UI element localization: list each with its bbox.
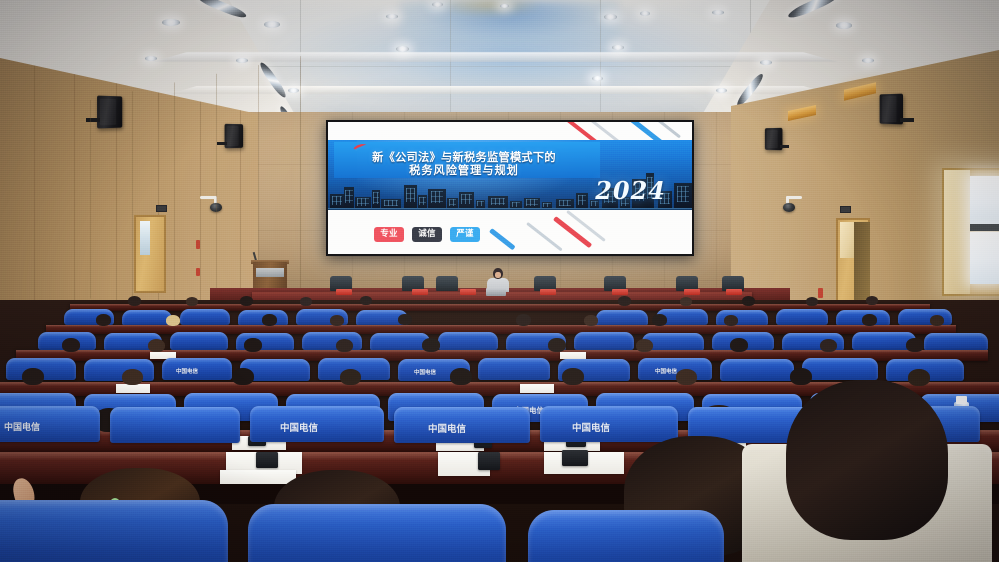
downlight xyxy=(760,60,772,65)
seat-brand-logo: 中国电信 xyxy=(428,421,466,435)
downlight xyxy=(716,88,727,93)
downlight xyxy=(145,56,157,61)
audience-head xyxy=(186,297,198,306)
seat-rear xyxy=(898,309,952,325)
seat-brand-logo: 中国电信 xyxy=(655,367,677,375)
seat-row-2: 中国电信 xyxy=(540,406,678,442)
lectern-sign xyxy=(256,268,284,277)
window-reveal xyxy=(944,170,970,294)
stage-chair xyxy=(436,276,458,291)
paper-sheet xyxy=(220,470,296,484)
seat-brand-logo: 中国电信 xyxy=(572,420,610,434)
audience-head xyxy=(360,296,372,305)
led-presentation-screen: 新《公司法》与新税务监管模式下的 税务风险管理与规划 2024 xyxy=(326,120,694,256)
downlight xyxy=(236,58,248,63)
seat-brand-logo: 中国电信 xyxy=(176,367,198,375)
mobile-phone xyxy=(562,450,588,466)
audience-head xyxy=(422,338,440,352)
seat-rear xyxy=(596,310,648,326)
foreground-seat-3 xyxy=(528,510,724,562)
screen-hero-band: 新《公司法》与新税务监管模式下的 税务风险管理与规划 2024 xyxy=(328,140,692,216)
seat-row-5 xyxy=(438,332,498,350)
seat-rear xyxy=(180,309,230,325)
audience-head xyxy=(96,314,111,326)
audience-head xyxy=(122,369,143,385)
audience-head xyxy=(636,339,653,352)
downlight xyxy=(264,21,280,28)
downlight xyxy=(592,76,603,81)
audience-head xyxy=(450,368,472,385)
downlight xyxy=(432,2,443,7)
dome-security-camera xyxy=(783,203,795,212)
presentation-title: 新《公司法》与新税务监管模式下的 税务风险管理与规划 xyxy=(328,151,600,177)
audience-head xyxy=(548,338,566,352)
seat-row-5 xyxy=(574,332,634,350)
audience-head xyxy=(906,338,924,352)
mobile-phone xyxy=(256,452,278,468)
audience-head xyxy=(862,314,877,326)
downlight xyxy=(712,10,724,15)
value-badge-rigor: 严谨 xyxy=(450,227,480,242)
accent-stripe-grey xyxy=(566,210,606,242)
audience-head xyxy=(562,368,584,385)
door-leaf xyxy=(854,222,870,302)
audience-head xyxy=(340,369,361,385)
seat-row-4 xyxy=(802,358,878,380)
downlight xyxy=(640,11,650,16)
seat-row-5 xyxy=(302,332,362,350)
value-badge-professional: 专业 xyxy=(374,227,404,242)
audience-head xyxy=(652,314,667,326)
table-nameplate xyxy=(460,289,476,295)
downlight xyxy=(862,58,874,63)
seat-brand-logo: 中国电信 xyxy=(4,420,40,433)
audience-head xyxy=(730,338,748,352)
audience-head xyxy=(148,339,165,352)
audience-head xyxy=(618,296,631,306)
seat-row-4: 中国电信 xyxy=(638,358,712,380)
title-line-1: 新《公司法》与新税务监管模式下的 xyxy=(328,151,600,164)
seat-row-2: 中国电信 xyxy=(250,406,384,442)
auditorium-photo: 新《公司法》与新税务监管模式下的 税务风险管理与规划 2024 xyxy=(0,0,999,562)
seat-row-5 xyxy=(170,332,228,350)
presentation-year: 2024 xyxy=(595,176,666,205)
audience-head xyxy=(820,339,837,352)
audience-head xyxy=(240,296,253,306)
audience-head xyxy=(742,296,755,306)
table-nameplate xyxy=(612,289,628,295)
table-nameplate xyxy=(726,289,742,295)
audience-head xyxy=(908,369,930,386)
downlight xyxy=(836,22,852,29)
window-pane-lower xyxy=(970,232,999,284)
table-nameplate xyxy=(336,289,352,295)
audience-head xyxy=(336,339,353,352)
seat-row-4 xyxy=(720,359,794,381)
table-nameplate xyxy=(684,289,700,295)
audience-head xyxy=(62,338,80,352)
paper-sheet xyxy=(560,352,586,359)
notebook xyxy=(478,452,500,470)
seat-row-5 xyxy=(924,333,988,351)
window-pane-upper xyxy=(970,176,999,224)
audience-head xyxy=(166,315,180,326)
audience-head xyxy=(330,315,344,326)
downlight xyxy=(162,19,180,26)
audience-head xyxy=(584,315,598,326)
audience-head xyxy=(676,369,697,385)
downlight xyxy=(500,4,509,8)
audience-head xyxy=(790,368,812,385)
fire-extinguisher-sign xyxy=(818,288,823,298)
table-nameplate xyxy=(540,289,556,295)
seat-row-2: 中国电信 xyxy=(394,407,530,443)
audience-head xyxy=(128,296,141,306)
seat-rear xyxy=(122,310,172,326)
audience-head xyxy=(680,297,692,306)
audience-head xyxy=(398,314,412,325)
audience-head xyxy=(232,368,254,385)
table-nameplate xyxy=(412,289,428,295)
downlight xyxy=(386,14,398,19)
seat-row-2 xyxy=(110,407,240,443)
presenter-face xyxy=(495,272,501,278)
seat-brand-logo: 中国电信 xyxy=(414,368,436,376)
screen-bottom-band: 专业 诚信 严谨 xyxy=(328,210,692,254)
accent-stripe-grey xyxy=(526,222,563,251)
audience-head xyxy=(866,296,878,305)
door-reveal-light xyxy=(840,222,854,258)
seat-row-4 xyxy=(84,359,154,381)
audience-head xyxy=(724,315,738,326)
ceiling-recess-band xyxy=(145,52,845,62)
presenter-laptop xyxy=(486,288,506,296)
downlight xyxy=(612,45,624,50)
seat-row-4 xyxy=(478,358,550,380)
daylight-window xyxy=(942,168,999,296)
seat-rear xyxy=(776,309,828,325)
audience-head xyxy=(300,297,312,306)
seat-row-2: 中国电信 xyxy=(0,406,100,442)
seat-row-5 xyxy=(370,333,430,351)
foreground-head-right xyxy=(786,380,948,540)
paper-sheet xyxy=(520,384,554,393)
accent-stripe-red xyxy=(553,216,592,248)
audience-head xyxy=(22,368,44,385)
audience-head xyxy=(930,315,944,326)
value-badge-integrity: 诚信 xyxy=(412,227,442,242)
screen-surface: 新《公司法》与新税务监管模式下的 税务风险管理与规划 2024 xyxy=(328,122,692,254)
speaker-mount-arm xyxy=(780,145,789,148)
side-entrance-door[interactable] xyxy=(836,218,870,302)
speaker-mount-arm xyxy=(900,118,914,122)
accent-stripe-blue xyxy=(489,228,516,250)
audience-head xyxy=(516,314,531,326)
foreground-seat-2 xyxy=(248,504,506,562)
wall-control-panel xyxy=(840,206,851,213)
downlight xyxy=(396,46,409,52)
audience-head xyxy=(806,297,818,306)
audience-head xyxy=(244,338,262,352)
audience-head xyxy=(262,314,277,326)
ceiling-warm-reflection xyxy=(440,0,540,17)
window-mullion xyxy=(970,224,999,231)
title-line-2: 税务风险管理与规划 xyxy=(328,164,600,177)
paper-sheet xyxy=(116,384,150,393)
bottle-cap xyxy=(956,396,967,404)
seat-row-4: 中国电信 xyxy=(162,358,232,380)
downlight xyxy=(604,14,617,20)
seat-brand-logo: 中国电信 xyxy=(280,420,318,434)
foreground-seat-1 xyxy=(0,500,228,562)
